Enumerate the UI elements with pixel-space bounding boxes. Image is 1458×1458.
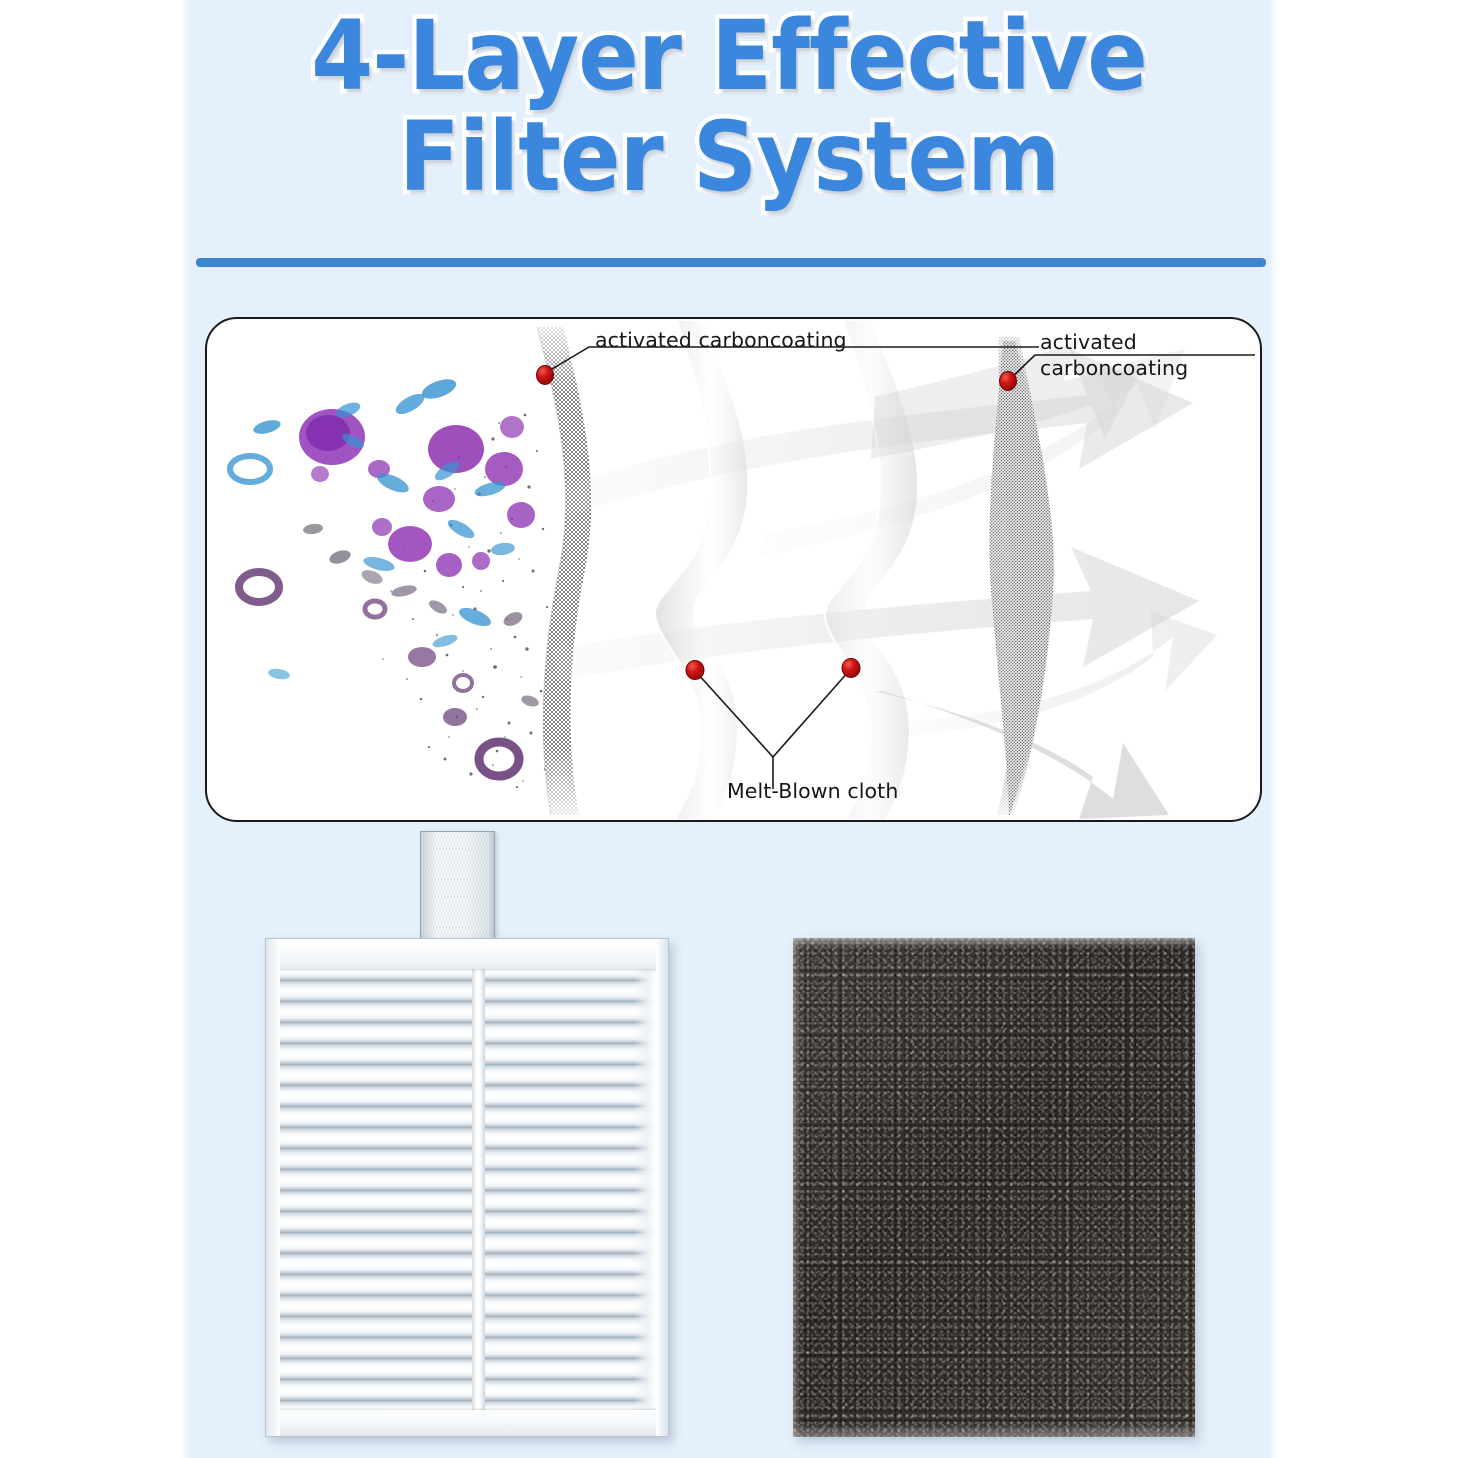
hepa-bottom-frame (266, 1410, 668, 1436)
foam-top-edge (793, 938, 1195, 948)
title-line-1: 4-Layer Effective (228, 6, 1231, 107)
hepa-pull-tab (420, 831, 495, 945)
page-title: 4-Layer Effective Filter System (190, 6, 1268, 208)
label-activated-carbon-right: activated carboncoating (1040, 330, 1188, 381)
dark-particles (239, 523, 540, 776)
title-line-2: Filter System (228, 107, 1231, 208)
hepa-end-caps (634, 967, 656, 1416)
filter-layers-illustration (207, 319, 1260, 820)
hepa-pleats (278, 969, 656, 1414)
hepa-filter-photo (265, 831, 667, 1435)
hepa-top-frame (266, 939, 668, 969)
hepa-filter-body (265, 938, 669, 1437)
layer-carbon-1 (507, 319, 617, 820)
hepa-center-rib (472, 967, 485, 1416)
hepa-right-frame (656, 939, 668, 1436)
particle-cloud (230, 375, 548, 788)
hepa-left-frame (266, 939, 280, 1436)
foam-left-edge (793, 938, 802, 1437)
label-activated-carbon-right-line2: carboncoating (1040, 356, 1188, 382)
label-activated-carbon-left: activated carboncoating (595, 328, 847, 354)
title-divider (196, 258, 1266, 267)
carbon-foam-filter-photo (793, 938, 1195, 1437)
filter-layers-diagram: activated carboncoating activated carbon… (205, 317, 1262, 822)
foam-bottom-edge (793, 1423, 1195, 1437)
label-activated-carbon-right-line1: activated (1040, 330, 1188, 356)
layer-meltblown-1 (655, 321, 747, 819)
label-melt-blown-cloth: Melt-Blown cloth (727, 779, 898, 805)
foam-texture (793, 938, 1195, 1437)
infographic-page: 4-Layer Effective Filter System (0, 0, 1458, 1458)
